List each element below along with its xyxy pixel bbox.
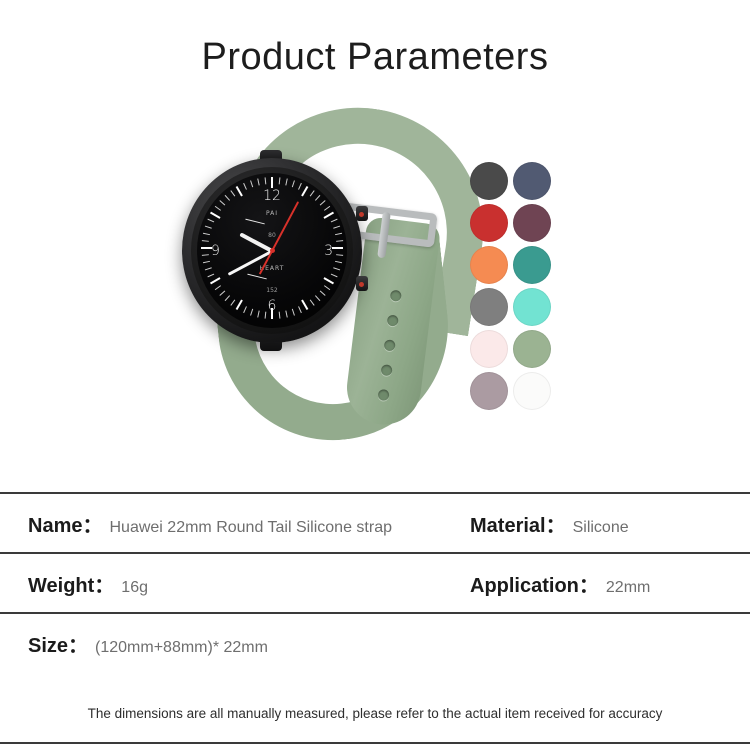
dial-tick-minor [257, 178, 259, 185]
dial-tick-minor [224, 295, 229, 301]
dial-numeral-9: 9 [211, 243, 220, 259]
spec-label: Application： [470, 569, 599, 598]
spec-cell-weight: Weight： 16g [0, 569, 470, 598]
dial-tick-minor [202, 261, 209, 263]
dial-tick-major [271, 177, 273, 188]
table-row: Weight： 16g Application： 22mm [0, 554, 750, 612]
dial-tick-minor [323, 206, 329, 211]
dial-tick-minor [214, 206, 220, 211]
dial-tick-major [323, 277, 334, 284]
dial-tick-minor [219, 290, 225, 295]
dial-numeral-12: 12 [263, 188, 281, 204]
spec-label: Material： [470, 509, 566, 538]
strap-hole [387, 314, 399, 326]
color-swatch-teal[interactable] [513, 246, 551, 284]
color-swatch-plum[interactable] [513, 204, 551, 242]
spec-value: 22mm [606, 579, 650, 597]
dial-tick-minor [285, 178, 287, 185]
dial-tick-minor [278, 312, 280, 319]
color-swatch-black[interactable] [470, 162, 508, 200]
color-swatch-turquoise[interactable] [513, 288, 551, 326]
product-parameters-page: Product Parameters [0, 0, 750, 750]
dial-tick-minor [330, 219, 337, 223]
dial-tick-minor [319, 290, 325, 295]
dial-tick-minor [230, 190, 235, 196]
spec-cell-name: Name： Huawei 22mm Round Tail Silicone st… [0, 509, 470, 538]
color-swatch-white[interactable] [513, 372, 551, 410]
strap-hole [390, 290, 402, 302]
dial-tick-minor [201, 240, 208, 242]
spec-value: Silicone [573, 519, 629, 537]
strap-hole [384, 339, 396, 351]
dial-tick-minor [207, 219, 214, 223]
dial-tick-minor [264, 312, 266, 319]
color-swatch-mauve[interactable] [470, 372, 508, 410]
heart-subdial-value: 152 [266, 287, 277, 294]
color-swatch-sage-green[interactable] [513, 330, 551, 368]
dial-tick-major [301, 186, 308, 197]
dial-tick-minor [204, 226, 211, 229]
dial-tick-minor [334, 261, 341, 263]
dial-tick-minor [250, 180, 253, 187]
color-swatch-grid[interactable] [470, 162, 551, 410]
dial-tick-major [332, 247, 343, 249]
second-hand [271, 201, 299, 251]
product-image: 12 3 6 9 PAI 80 HEART 152 [0, 100, 750, 490]
spec-cell-size: Size： (120mm+88mm)* 22mm [0, 629, 470, 658]
dial-tick-minor [250, 309, 253, 316]
color-swatch-navy-slate[interactable] [513, 162, 551, 200]
strap-hole [381, 364, 393, 376]
watch-dial: 12 3 6 9 PAI 80 HEART 152 [197, 173, 347, 328]
dial-tick-minor [333, 267, 340, 270]
dial-tick-minor [285, 310, 287, 317]
spec-cell-material: Material： Silicone [470, 509, 629, 538]
color-swatch-gray[interactable] [470, 288, 508, 326]
dial-tick-minor [201, 254, 208, 256]
dial-tick-minor [309, 299, 314, 305]
dial-numeral-6: 6 [268, 298, 277, 314]
dial-numeral-3: 3 [324, 243, 333, 259]
dial-tick-minor [319, 200, 325, 205]
dial-tick-minor [264, 177, 266, 184]
dial-tick-minor [214, 285, 220, 290]
dial-tick-minor [333, 226, 340, 229]
dial-tick-major [323, 212, 334, 219]
page-title: Product Parameters [0, 36, 750, 79]
dial-tick-minor [336, 240, 343, 242]
dial-tick-minor [230, 299, 235, 305]
dial-tick-minor [336, 254, 343, 256]
dial-tick-major [236, 186, 243, 197]
bottom-divider [0, 742, 750, 744]
pai-subdial-value: 80 [268, 232, 276, 239]
pai-subdial-hand [245, 219, 265, 225]
dial-tick-major [301, 299, 308, 310]
spec-label: Name： [28, 509, 102, 538]
dial-tick-minor [243, 306, 247, 313]
spec-label: Weight： [28, 569, 114, 598]
smartwatch: 12 3 6 9 PAI 80 HEART 152 [182, 158, 362, 343]
watch-crown-accent-bottom [359, 282, 364, 287]
hands-pivot [270, 248, 275, 253]
color-swatch-orange[interactable] [470, 246, 508, 284]
table-row: Size： (120mm+88mm)* 22mm [0, 614, 750, 672]
color-swatch-red[interactable] [470, 204, 508, 242]
dial-tick-minor [330, 274, 337, 278]
dial-tick-major [236, 299, 243, 310]
spec-value: (120mm+88mm)* 22mm [95, 639, 268, 657]
dial-tick-minor [314, 195, 319, 201]
spec-value: 16g [121, 579, 148, 597]
dial-tick-major [210, 212, 221, 219]
dial-tick-minor [257, 310, 259, 317]
table-row: Name： Huawei 22mm Round Tail Silicone st… [0, 494, 750, 552]
dial-tick-minor [224, 195, 229, 201]
heart-subdial-hand [247, 274, 267, 280]
dial-tick-minor [309, 190, 314, 196]
dial-tick-minor [243, 183, 247, 190]
dial-tick-minor [207, 274, 214, 278]
spec-label: Size： [28, 629, 88, 658]
dial-tick-minor [278, 177, 280, 184]
dial-tick-minor [202, 233, 209, 235]
dial-tick-minor [298, 183, 302, 190]
measurement-disclaimer: The dimensions are all manually measured… [0, 706, 750, 721]
watch-crown-accent-top [359, 212, 364, 217]
dial-tick-minor [323, 285, 329, 290]
dial-tick-minor [291, 180, 294, 187]
strap-hole [377, 389, 389, 401]
dial-tick-minor [314, 295, 319, 301]
dial-tick-major [210, 277, 221, 284]
specification-table: Name： Huawei 22mm Round Tail Silicone st… [0, 492, 750, 672]
dial-tick-minor [334, 233, 341, 235]
dial-tick-minor [204, 267, 211, 270]
pai-subdial-label: PAI [266, 210, 278, 217]
spec-cell-application: Application： 22mm [470, 569, 650, 598]
dial-tick-minor [291, 309, 294, 316]
dial-tick-minor [219, 200, 225, 205]
color-swatch-pale-pink[interactable] [470, 330, 508, 368]
spec-value: Huawei 22mm Round Tail Silicone strap [109, 519, 392, 537]
dial-tick-minor [298, 306, 302, 313]
